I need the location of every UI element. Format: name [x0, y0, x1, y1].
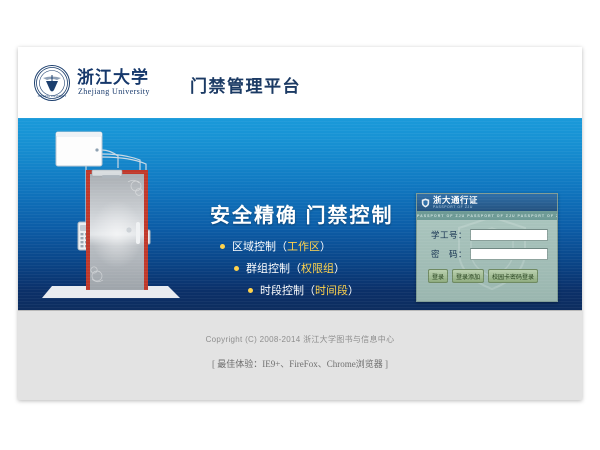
university-name-cn: 浙江大学	[77, 69, 150, 87]
feature-tail: ）	[348, 282, 359, 298]
login-button-row: 登录 登录添加 校园卡密码登录	[423, 267, 551, 283]
page-root: ZHEJIANG UNIVERSITY 浙江大学 Zhejiang Univer…	[0, 0, 600, 450]
feature-label: 群组控制（	[246, 260, 301, 276]
feature-item-time-control: 时段控制（ 时间段 ）	[220, 282, 410, 298]
login-panel: 浙大通行证 PASSPORT OF ZJU PASSPORT OF ZJU PA…	[416, 193, 558, 302]
login-panel-watermark-band: PASSPORT OF ZJU PASSPORT OF ZJU PASSPORT…	[417, 211, 557, 220]
feature-label: 时段控制（	[260, 282, 315, 298]
site-header: ZHEJIANG UNIVERSITY 浙江大学 Zhejiang Univer…	[18, 47, 582, 118]
shield-icon	[421, 198, 430, 208]
feature-highlight: 时间段	[315, 282, 348, 298]
page-title: 门禁管理平台	[190, 72, 301, 97]
password-label: 密 码：	[423, 248, 470, 260]
login-panel-title-cn: 浙大通行证	[433, 196, 478, 205]
bullet-dot-icon	[220, 244, 225, 249]
university-name-en: Zhejiang University	[78, 87, 150, 97]
feature-label: 区域控制（	[232, 238, 287, 254]
login-panel-title-en: PASSPORT OF ZJU	[433, 205, 478, 210]
svg-text:ZHEJIANG UNIVERSITY: ZHEJIANG UNIVERSITY	[38, 95, 67, 98]
banner-headline: 安全精确 门禁控制	[210, 199, 394, 228]
door-access-control-illustration	[40, 126, 180, 306]
login-field-row: 学工号：	[423, 229, 551, 241]
site-footer: Copyright (C) 2008-2014 浙江大学图书与信息中心 [ 最佳…	[18, 310, 582, 400]
login-panel-body: 学工号： 密 码： 登录 登录添加 校园卡密码登录	[417, 220, 557, 301]
browser-support-note: [ 最佳体验：IE9+、FireFox、Chrome浏览器 ]	[18, 357, 582, 370]
zju-seal-icon: ZHEJIANG UNIVERSITY	[34, 65, 70, 101]
hero-banner: 安全精确 门禁控制 区域控制（ 工作区 ） 群组控制（ 权限组 ） 时段	[18, 118, 582, 310]
login-panel-titlebar: 浙大通行证 PASSPORT OF ZJU	[417, 194, 557, 211]
password-input[interactable]	[470, 248, 548, 260]
copyright-text: Copyright (C) 2008-2014 浙江大学图书与信息中心	[18, 334, 582, 345]
feature-item-area-control: 区域控制（ 工作区 ）	[220, 238, 410, 254]
feature-highlight: 工作区	[287, 238, 320, 254]
login-add-button[interactable]: 登录添加	[452, 269, 484, 283]
login-form: 学工号： 密 码： 登录 登录添加 校园卡密码登录	[417, 220, 557, 283]
login-field-row: 密 码：	[423, 248, 551, 260]
bullet-dot-icon	[248, 288, 253, 293]
feature-item-group-control: 群组控制（ 权限组 ）	[220, 260, 410, 276]
campus-card-login-button[interactable]: 校园卡密码登录	[488, 269, 538, 283]
student-staff-id-input[interactable]	[470, 229, 548, 241]
bullet-dot-icon	[234, 266, 239, 271]
feature-tail: ）	[320, 238, 331, 254]
feature-tail: ）	[334, 260, 345, 276]
banner-feature-list: 区域控制（ 工作区 ） 群组控制（ 权限组 ） 时段控制（ 时间段 ）	[220, 238, 410, 304]
login-button[interactable]: 登录	[428, 269, 448, 283]
site-card: ZHEJIANG UNIVERSITY 浙江大学 Zhejiang Univer…	[18, 47, 582, 400]
university-logo[interactable]: ZHEJIANG UNIVERSITY 浙江大学 Zhejiang Univer…	[34, 65, 150, 101]
student-staff-id-label: 学工号：	[423, 229, 470, 241]
feature-highlight: 权限组	[301, 260, 334, 276]
